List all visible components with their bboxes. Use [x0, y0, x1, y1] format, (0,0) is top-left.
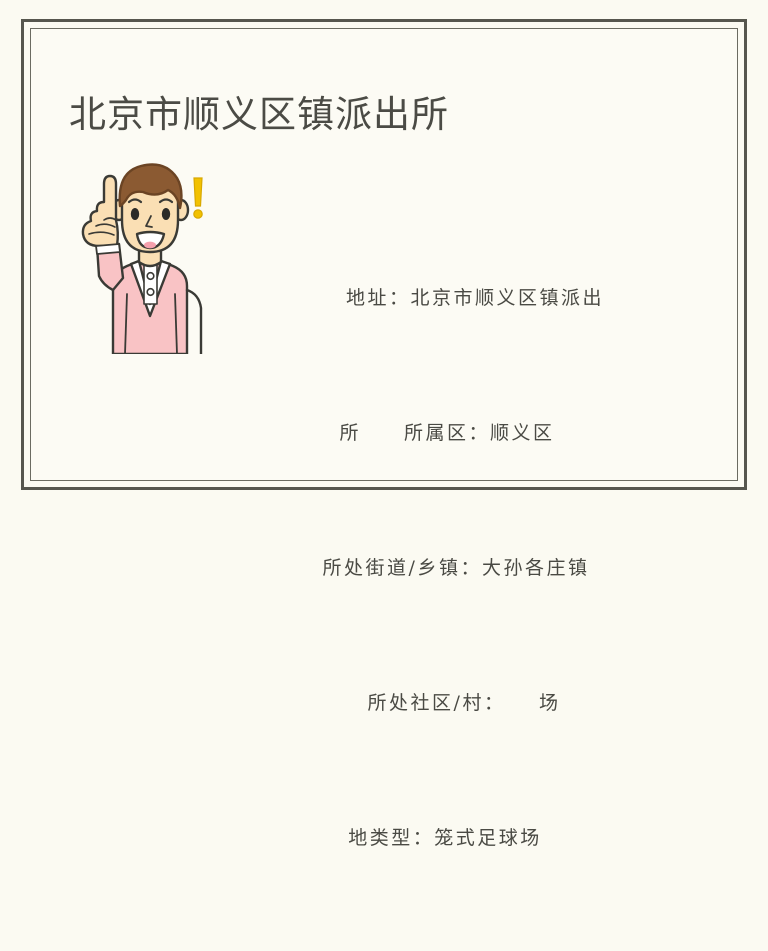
info-line-land-type: 地类型：笼式足球场 [231, 816, 671, 861]
sleeve-cuff [96, 244, 120, 254]
info-line-address: 地址：北京市顺义区镇派出 [231, 276, 671, 321]
page-title: 北京市顺义区镇派出所 [69, 94, 449, 137]
shirt-placket [144, 264, 157, 304]
pointing-man-svg [69, 154, 229, 354]
pointing-hand [83, 176, 118, 246]
eye-left [131, 208, 139, 220]
info-card-inner-border: 北京市顺义区镇派出所 [30, 28, 738, 481]
eye-right [162, 208, 170, 220]
shirt-button-bottom [147, 289, 154, 296]
info-line-street: 所处街道/乡镇：大孙各庄镇 [231, 546, 671, 591]
tongue [144, 242, 156, 249]
info-card: 北京市顺义区镇派出所 [21, 19, 747, 490]
info-line-community: 所处社区/村： 场 [231, 681, 671, 726]
sweater-right-arm [187, 290, 201, 354]
info-text-block: 地址：北京市顺义区镇派出 所 所属区：顺义区 所处街道/乡镇：大孙各庄镇 所处社… [231, 186, 671, 951]
shirt-button-top [147, 273, 154, 280]
exclamation-icon [194, 178, 202, 218]
pointing-man-illustration [69, 154, 229, 354]
info-line-district: 所 所属区：顺义区 [231, 411, 671, 456]
